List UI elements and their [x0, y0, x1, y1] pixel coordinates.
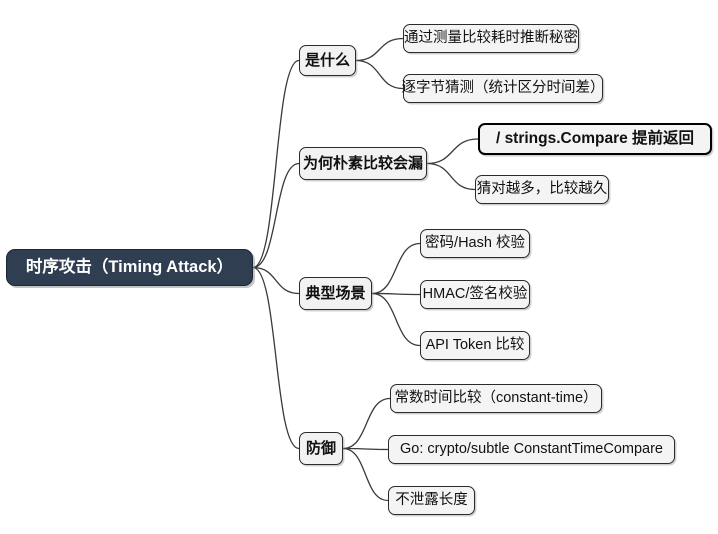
- leaf-node-api-token-compare[interactable]: API Token 比较: [420, 331, 530, 360]
- connector-root-to-why-naive-leaks: [253, 164, 299, 268]
- connector-why-naive-leaks-to-more-correct-slower: [427, 164, 475, 190]
- connector-typical-scenarios-to-api-token-compare: [372, 294, 420, 346]
- branch-node-why-naive-leaks[interactable]: 为何朴素比较会漏: [299, 147, 427, 180]
- connector-defense-to-no-length-leak: [343, 449, 388, 501]
- leaf-node-constant-time-compare[interactable]: 常数时间比较（constant-time）: [390, 384, 602, 413]
- connector-typical-scenarios-to-password-hash-verify: [372, 244, 420, 294]
- branch-node-what-is-it[interactable]: 是什么: [299, 45, 356, 76]
- branch-node-typical-scenarios[interactable]: 典型场景: [299, 277, 372, 310]
- leaf-node-byte-by-byte-guess[interactable]: 逐字节猜测（统计区分时间差）: [403, 74, 603, 103]
- leaf-node-measure-infer-secret[interactable]: 通过测量比较耗时推断秘密: [403, 24, 579, 53]
- connector-typical-scenarios-to-hmac-signature-verify: [372, 294, 420, 295]
- leaf-node-go-crypto-subtle[interactable]: Go: crypto/subtle ConstantTimeCompare: [388, 435, 675, 464]
- connector-what-is-it-to-measure-infer-secret: [356, 39, 403, 61]
- leaf-node-no-length-leak[interactable]: 不泄露长度: [388, 486, 475, 515]
- branch-node-defense[interactable]: 防御: [299, 432, 343, 465]
- connector-defense-to-constant-time-compare: [343, 399, 390, 449]
- connector-root-to-typical-scenarios: [253, 268, 299, 294]
- leaf-node-more-correct-slower[interactable]: 猜对越多，比较越久: [475, 175, 609, 204]
- connector-what-is-it-to-byte-by-byte-guess: [356, 61, 403, 89]
- connector-root-to-defense: [253, 268, 299, 449]
- root-node[interactable]: 时序攻击（Timing Attack）: [6, 249, 253, 286]
- connector-defense-to-go-crypto-subtle: [343, 449, 388, 450]
- leaf-node-hmac-signature-verify[interactable]: HMAC/签名校验: [420, 280, 530, 309]
- connector-root-to-what-is-it: [253, 61, 299, 268]
- mindmap-canvas: 时序攻击（Timing Attack）是什么通过测量比较耗时推断秘密逐字节猜测（…: [0, 0, 718, 534]
- leaf-node-password-hash-verify[interactable]: 密码/Hash 校验: [420, 229, 530, 258]
- connector-why-naive-leaks-to-strings-compare-early-return: [427, 139, 478, 164]
- leaf-node-strings-compare-early-return[interactable]: / strings.Compare 提前返回: [478, 123, 712, 155]
